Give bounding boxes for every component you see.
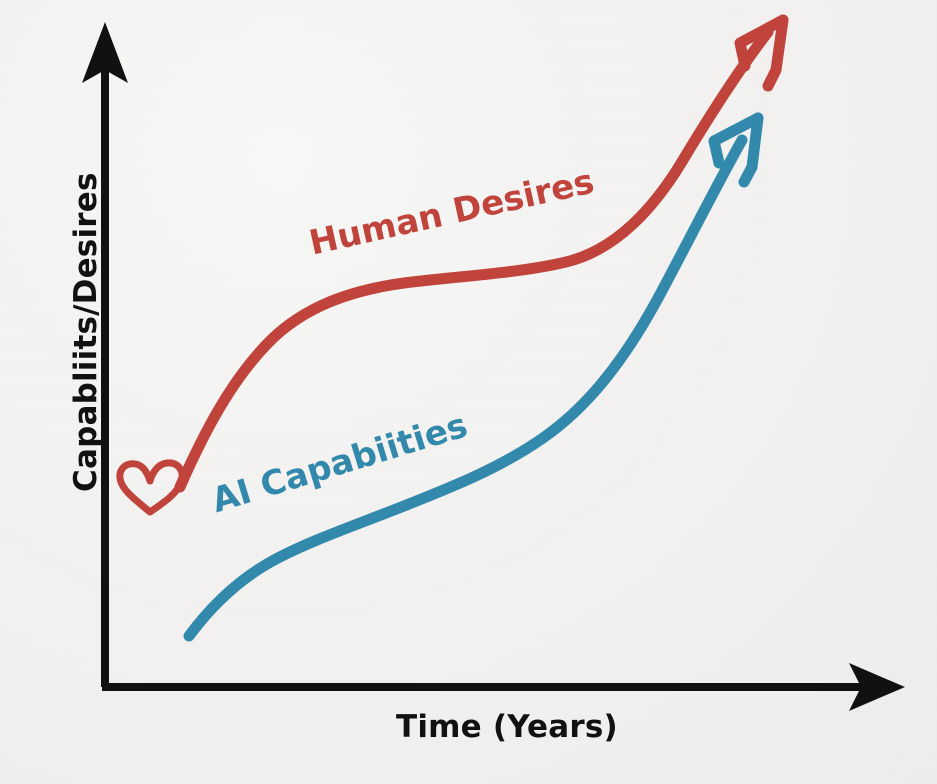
chart-canvas: Capabliits/Desires Time (Years) Human De…	[0, 0, 937, 784]
y-axis-label: Capabliits/Desires	[68, 172, 104, 492]
sketch-chart-figure	[0, 0, 937, 784]
heart-icon	[120, 463, 182, 512]
x-axis-label: Time (Years)	[396, 709, 618, 745]
